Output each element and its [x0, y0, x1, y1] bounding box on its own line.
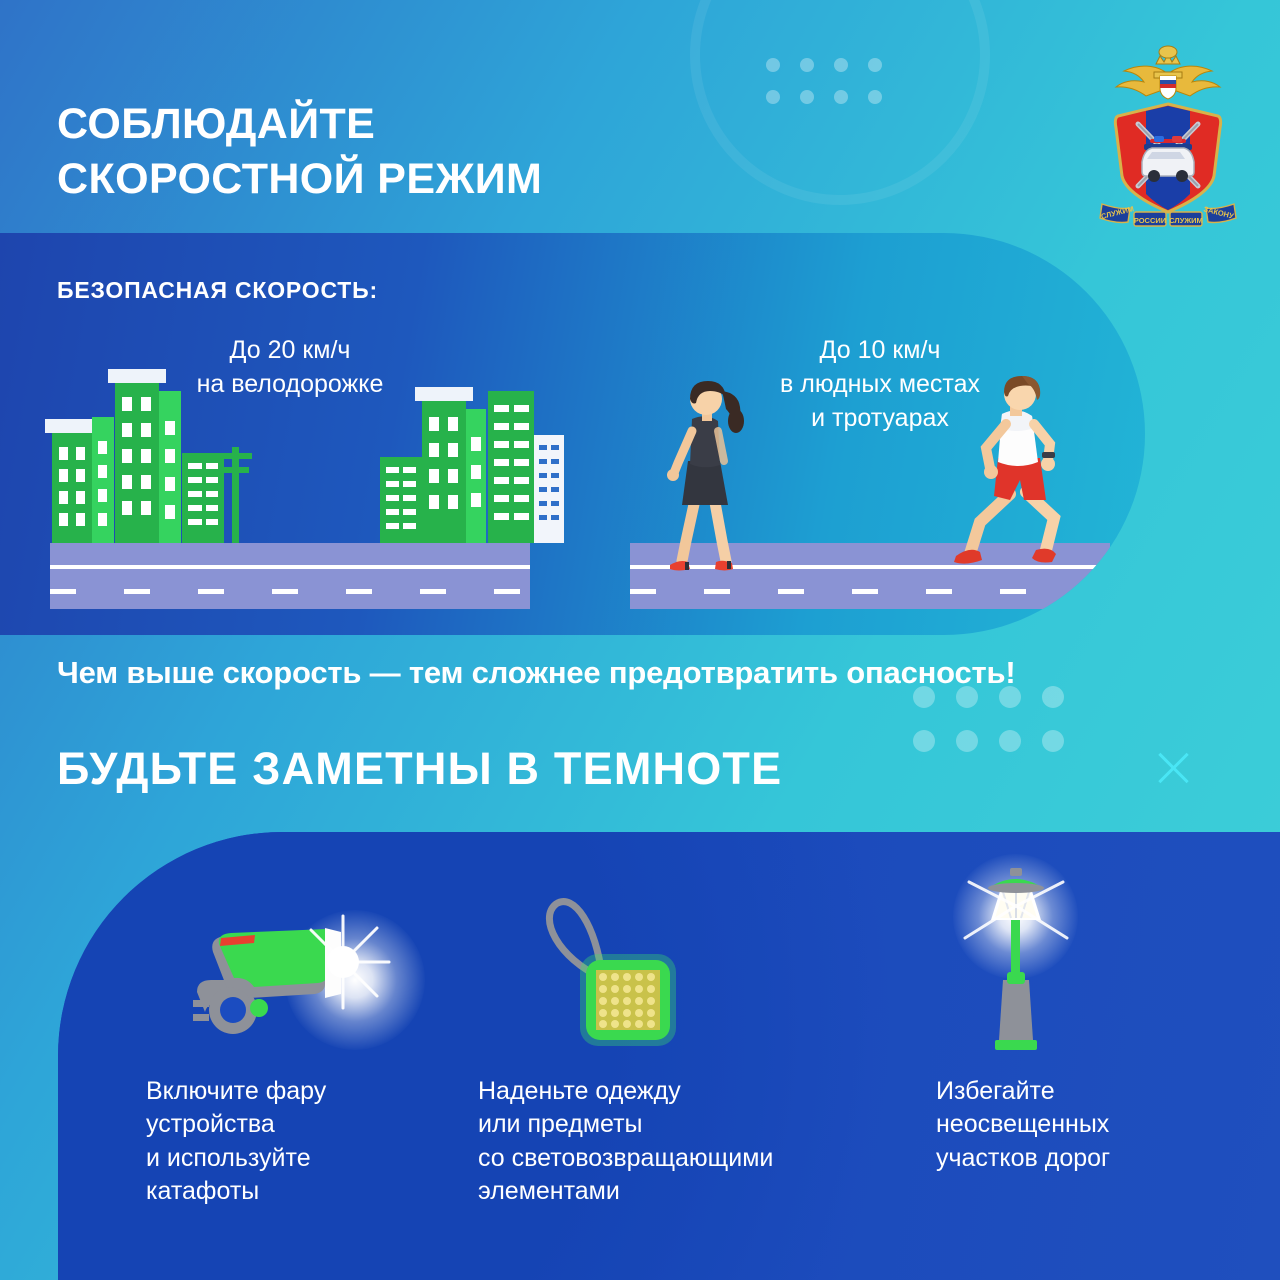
building [115, 383, 159, 543]
tip2-line3: со световозвращающими [478, 1142, 773, 1175]
building [466, 409, 486, 543]
tip1-line4: катафоты [146, 1175, 326, 1208]
building [422, 401, 466, 543]
road-dashed-line [630, 589, 1110, 594]
walking-woman-figure [652, 375, 762, 575]
tip3-line2: неосвещенных [936, 1108, 1110, 1141]
street-lamp-icon [955, 862, 1075, 1057]
decorative-dot-grid-top [766, 58, 902, 122]
utility-pole [232, 447, 239, 543]
tip-caption-3: Избегайте неосвещенных участков дорог [936, 1075, 1110, 1175]
bike-headlight-icon [185, 900, 400, 1050]
building [159, 391, 181, 543]
tip1-line1: Включите фару [146, 1075, 326, 1108]
tip1-line2: устройства [146, 1108, 326, 1141]
building [488, 391, 534, 543]
reflective-tag-icon [540, 892, 710, 1057]
speed-warning-banner: Чем выше скорость — тем сложнее предотвр… [57, 655, 1016, 691]
city-bikelane-scene [50, 345, 530, 635]
road-left [50, 543, 530, 609]
tip2-line4: элементами [478, 1175, 773, 1208]
tip-caption-1: Включите фару устройства и используйте к… [146, 1075, 326, 1208]
road-dashed-line [50, 589, 530, 594]
infographic-poster: СОБЛЮДАЙТЕ СКОРОСТНОЙ РЕЖИМ [0, 0, 1280, 1280]
close-x-icon [1152, 748, 1192, 788]
tip2-line1: Наденьте одежду [478, 1075, 773, 1108]
building [92, 417, 114, 543]
building [380, 457, 422, 543]
tip1-line3: и используйте [146, 1142, 326, 1175]
emblem-motto-mid-left: РОССИИ [1134, 216, 1166, 225]
tip2-line2: или предметы [478, 1108, 773, 1141]
tip3-line1: Избегайте [936, 1075, 1110, 1108]
pedestrians-sidewalk-scene [630, 345, 1110, 635]
building [534, 435, 564, 543]
safe-speed-title: БЕЗОПАСНАЯ СКОРОСТЬ: [57, 277, 378, 304]
page-title-line2: СКОРОСТНОЙ РЕЖИМ [57, 152, 757, 207]
tip-caption-2: Наденьте одежду или предметы со световоз… [478, 1075, 773, 1208]
visibility-section-title: БУДЬТЕ ЗАМЕТНЫ В ТЕМНОТЕ [57, 743, 782, 795]
building [182, 453, 224, 543]
road-solid-line [50, 565, 530, 569]
safe-speed-panel: БЕЗОПАСНАЯ СКОРОСТЬ: До 20 км/ч на велод… [0, 233, 1145, 635]
page-title-line1: СОБЛЮДАЙТЕ [57, 97, 757, 152]
running-man-figure [950, 372, 1085, 577]
decorative-dot-grid-mid [913, 686, 1085, 774]
emblem-motto-mid-right: СЛУЖИМ [1169, 216, 1203, 225]
gibdd-emblem: СЛУЖИМ РОССИИ СЛУЖИМ ЗАКОНУ [1094, 44, 1242, 234]
page-title: СОБЛЮДАЙТЕ СКОРОСТНОЙ РЕЖИМ [57, 97, 757, 207]
tip3-line3: участков дорог [936, 1142, 1110, 1175]
building [52, 433, 94, 543]
